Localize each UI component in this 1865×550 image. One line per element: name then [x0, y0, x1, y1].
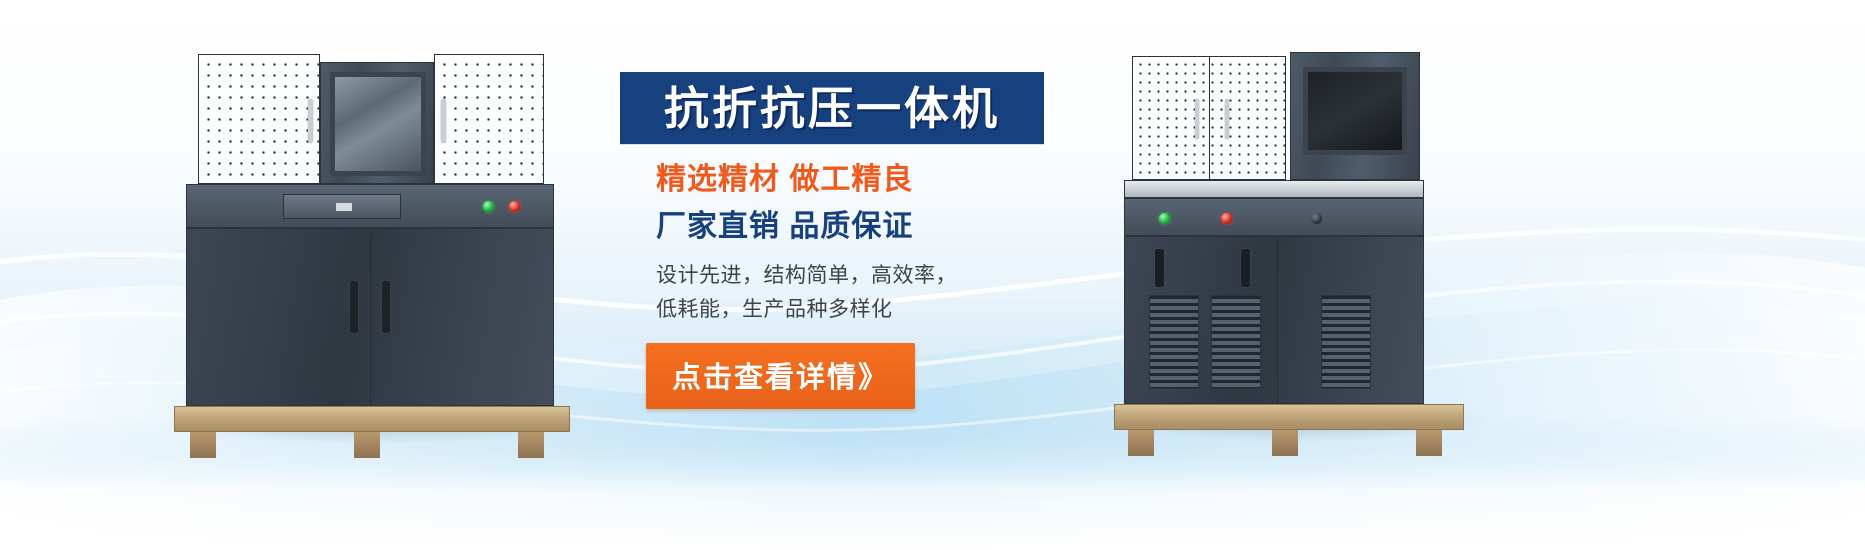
wooden-pallet — [174, 406, 570, 432]
door-handle-icon — [1241, 249, 1250, 287]
view-details-button[interactable]: 点击查看详情》 — [646, 343, 915, 409]
banner-copy-block: 抗折抗压一体机 精选精材 做工精良 厂家直销 品质保证 设计先进，结构简单，高效… — [620, 72, 1060, 409]
pallet-leg — [354, 432, 380, 458]
door-handle-icon — [308, 99, 313, 143]
body-divider — [1277, 237, 1278, 403]
control-deck — [186, 184, 554, 228]
ventilation-grille — [1321, 295, 1371, 389]
door-handle-icon — [1225, 99, 1229, 139]
pallet-leg — [1128, 430, 1154, 456]
deck-label — [336, 203, 352, 211]
green-indicator-lamp — [1159, 213, 1170, 224]
monitor-display-screen — [1303, 67, 1407, 155]
wooden-pallet — [1114, 404, 1464, 430]
upper-right-perforated-door — [434, 54, 544, 184]
description-block: 设计先进，结构简单，高效率， 低耗能，生产品种多样化 — [620, 259, 1060, 327]
door-handle-icon — [350, 281, 358, 333]
control-deck — [1124, 198, 1424, 236]
product-image-left — [168, 40, 568, 430]
monitor-housing — [1290, 52, 1420, 180]
subline-primary: 精选精材 做工精良 — [620, 160, 1060, 201]
page-title: 抗折抗压一体机 — [664, 86, 1000, 131]
door-handle-icon — [1195, 99, 1199, 139]
ventilation-grille — [1211, 295, 1261, 389]
headline-bar: 抗折抗压一体机 — [620, 72, 1044, 144]
description-line-1: 设计先进，结构简单，高效率， — [656, 259, 1060, 293]
control-display-screen — [330, 72, 426, 176]
green-indicator-lamp — [483, 201, 494, 212]
product-image-right — [1120, 38, 1475, 430]
promo-banner: 抗折抗压一体机 精选精材 做工精良 厂家直销 品质保证 设计先进，结构简单，高效… — [0, 0, 1865, 550]
cabinet-divider — [1209, 57, 1210, 179]
pallet-leg — [1416, 430, 1442, 456]
pallet-leg — [1272, 430, 1298, 456]
machine-main-body — [1124, 236, 1424, 404]
body-door-left — [187, 229, 371, 405]
door-handle-icon — [1155, 249, 1164, 287]
door-handle-icon — [382, 281, 390, 333]
body-door-right — [370, 229, 553, 405]
upper-perforated-cabinet — [1132, 56, 1286, 180]
subline-secondary: 厂家直销 品质保证 — [620, 207, 1060, 248]
upper-deck-trim — [1124, 180, 1424, 198]
pallet-leg — [190, 432, 216, 458]
cta-container: 点击查看详情》 — [620, 343, 1060, 409]
upper-left-perforated-door — [198, 54, 320, 184]
door-handle-icon — [441, 99, 446, 143]
pallet-leg — [518, 432, 544, 458]
red-indicator-lamp — [1221, 213, 1232, 224]
deck-inset-panel — [283, 194, 401, 219]
ventilation-grille — [1149, 295, 1199, 389]
machine-main-body — [186, 228, 554, 406]
red-indicator-lamp — [509, 201, 520, 212]
description-line-2: 低耗能，生产品种多样化 — [656, 293, 1060, 327]
control-screen-housing — [320, 62, 434, 184]
auxiliary-lamp — [1311, 213, 1322, 224]
